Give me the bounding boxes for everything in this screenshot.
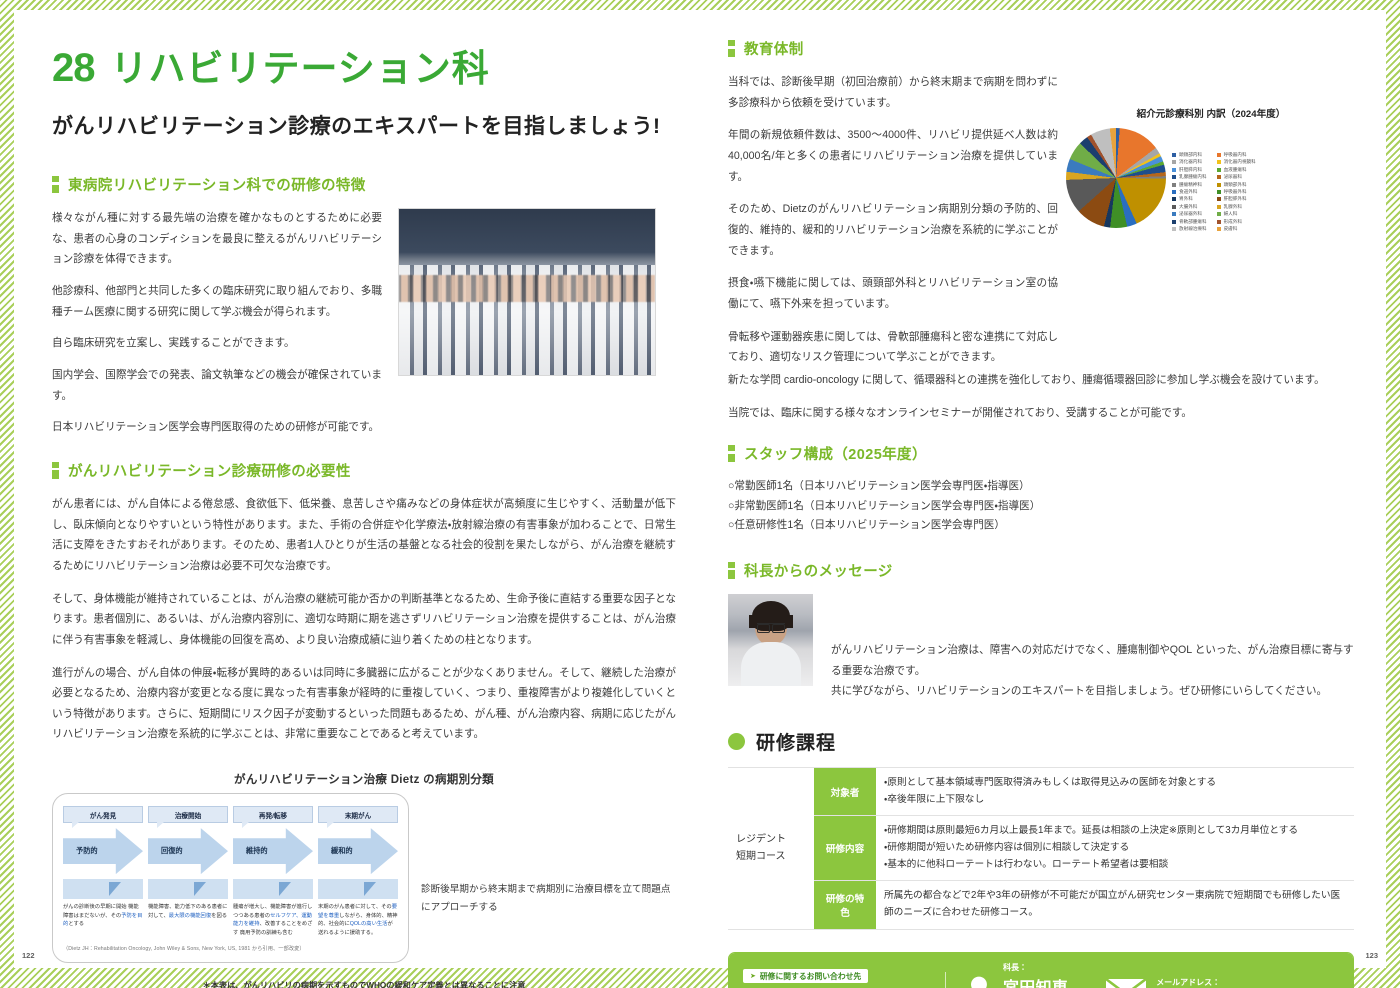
- legend-item: 放射線治療科: [1172, 226, 1207, 232]
- legend-swatch-icon: [1217, 197, 1221, 201]
- list-item: ・研修期間は原則最短6カ月以上最長1年まで。延長は相談の上決定※原則として3カ月…: [884, 823, 1346, 840]
- contact-tag-label: 研修に関するお問い合わせ先: [760, 971, 861, 982]
- legend-item: 肝胆膵内科: [1172, 167, 1207, 173]
- section-title-label: スタッフ構成（2025年度）: [744, 443, 927, 464]
- chapter-number: 28: [52, 46, 95, 91]
- legend-swatch-icon: [1217, 153, 1221, 157]
- legend-swatch-icon: [1217, 220, 1221, 224]
- leaf-marker-icon: [148, 879, 228, 899]
- legend-swatch-icon: [1172, 190, 1176, 194]
- leaf-marker-icon: [233, 879, 313, 899]
- envelope-icon: [1105, 977, 1147, 988]
- referral-pie-chart: 紹介元診療科別 内訳（2024年度） 頭頸部内科消化器内科肝胆膵内科乳腺腫瘍内科…: [1066, 106, 1356, 232]
- stage-description: 腫瘍が増大し、機能障害が進行しつつある患者のセルフケア、運動能力を維持、改善する…: [233, 903, 313, 937]
- stage-description: 末期のがん患者に対して、その要望を尊重しながら、身体的、精神的、社会的にQOLの…: [318, 903, 398, 937]
- two-page-spread: 28 リハビリテーション科 がんリハビリテーション診療のエキスパートを目指しまし…: [14, 10, 1386, 968]
- row-value: ・原則として基本領域専門医取得済みもしくは取得見込みの医師を対象とする ・卒後年…: [876, 767, 1354, 815]
- section-heading-education: 教育体制: [728, 38, 1354, 59]
- stage-description: 機能障害、能力低下のある患者に対して、最大限の機能回復を図る: [148, 903, 228, 937]
- legend-label: 頭頸部内科: [1179, 152, 1202, 158]
- arrow-label: 緩和的: [318, 846, 353, 856]
- legend-item: 乳腺外科: [1217, 204, 1256, 210]
- chart-body: 頭頸部内科消化器内科肝胆膵内科乳腺腫瘍内科腫瘍精神科食道外科胃外科大腸外科泌尿器…: [1066, 128, 1356, 232]
- table-row: レジデント 短期コース 対象者 ・原則として基本領域専門医取得済みもしくは取得見…: [728, 767, 1354, 815]
- legend-column-left: 頭頸部内科消化器内科肝胆膵内科乳腺腫瘍内科腫瘍精神科食道外科胃外科大腸外科泌尿器…: [1172, 152, 1207, 232]
- bar-marker-icon: [52, 176, 59, 193]
- contact-org-block: ➤ 研修に関するお問い合わせ先: [743, 965, 927, 988]
- divider: [945, 972, 946, 988]
- list-item: ・卒後年限に上下限なし: [884, 792, 1346, 809]
- phase-arrow-icon: 回復的: [148, 828, 228, 874]
- list-item: ・基本的に他科ローテートは行わない。ローテート希望者は要相談: [884, 857, 1346, 874]
- desc-highlight: 最大限の機能回復: [169, 913, 211, 919]
- desc-text: 末期のがん患者に対して、その: [318, 904, 392, 910]
- paragraph: 自ら臨床研究を立案し、実践することができます。: [52, 333, 382, 354]
- legend-swatch-icon: [1172, 197, 1176, 201]
- message-line: 共に学びながら、リハビリテーションのエキスパートを目指しましょう。ぜひ研修にいら…: [831, 681, 1354, 702]
- legend-swatch-icon: [1172, 160, 1176, 164]
- legend-item: 大腸外科: [1172, 204, 1207, 210]
- legend-swatch-icon: [1217, 190, 1221, 194]
- bar-marker-icon: [728, 562, 735, 579]
- bar-marker-icon: [728, 445, 735, 462]
- page-subtitle: がんリハビリテーション診療のエキスパートを目指しましょう!: [52, 110, 676, 140]
- section-heading-necessity: がんリハビリテーション診療研修の必要性: [52, 460, 676, 481]
- section-heading-message: 科長からのメッセージ: [728, 560, 1354, 581]
- legend-item: 泌尿器科: [1217, 174, 1256, 180]
- legend-label: 食道外科: [1179, 189, 1197, 195]
- course-name-line2: 短期コース: [736, 848, 806, 865]
- stage-column: 末期がん: [318, 806, 398, 823]
- stage-column: 予防的: [63, 823, 143, 874]
- leaf-marker-icon: [318, 879, 398, 899]
- paragraph: 新たな学問 cardio-oncology に関して、循環器科との連携を強化して…: [728, 370, 1354, 391]
- bar-marker-icon: [52, 462, 59, 479]
- diagram-row: がん発見 治療開始 再発/転移 末期がん: [52, 793, 676, 963]
- diagram-title: がんリハビリテーション治療 Dietz の病期別分類: [52, 771, 676, 787]
- phase-arrow-icon: 維持的: [233, 828, 313, 874]
- legend-item: 肝胆膵外科: [1217, 196, 1256, 202]
- staff-line: ○非常勤医師1名（日本リハビリテーション医学会専門医・指導医）: [728, 497, 1354, 517]
- intro-paragraphs: 様々ながん種に対する最先端の治療を確かなものとするために必要な、患者の心身のコン…: [52, 208, 382, 438]
- staff-group-photo: [398, 208, 656, 376]
- section-heading-staff: スタッフ構成（2025年度）: [728, 443, 1354, 464]
- paragraph: 日本リハビリテーション医学会専門医取得のための研修が可能です。: [52, 417, 382, 438]
- stage-column: 再発/転移: [233, 806, 313, 823]
- legend-item: 腫瘍精神科: [1172, 182, 1207, 188]
- legend-label: 血液腫瘍科: [1224, 167, 1247, 173]
- legend-swatch-icon: [1217, 160, 1221, 164]
- row-value: ・研修期間は原則最短6カ月以上最長1年まで。延長は相談の上決定※原則として3カ月…: [876, 816, 1354, 881]
- stage-column: 回復的: [148, 823, 228, 874]
- email-info: メールアドレス： cmiyata@east.ncc.go.jp: [1156, 977, 1339, 988]
- right-page: 教育体制 当科では、診断後早期（初回治療前）から終末期まで病期を問わずに多診療科…: [700, 10, 1386, 968]
- legend-swatch-icon: [1172, 220, 1176, 224]
- legend-label: 形成外科: [1224, 219, 1242, 225]
- diagram-panel: がん発見 治療開始 再発/転移 末期がん: [52, 793, 409, 963]
- legend-label: 骨軟部腫瘍科: [1179, 219, 1207, 225]
- phase-arrow-icon: 予防的: [63, 828, 143, 874]
- chief-info: 科長： 宮田知恵子: [1003, 962, 1079, 988]
- table-row: 研修内容 ・研修期間は原則最短6カ月以上最長1年まで。延長は相談の上決定※原則と…: [728, 816, 1354, 881]
- diagram-footnote: ＊本表は、がんリハビリの病期を示すものでWHOの緩和ケア定義とは異なることに注意: [52, 979, 676, 988]
- paragraph: 他診療科、他部門と共同した多くの臨床研究に取り組んでおり、多職種チーム医療に関す…: [52, 281, 382, 322]
- stage-tag: 治療開始: [148, 806, 228, 823]
- legend-item: 頭頸部内科: [1172, 152, 1207, 158]
- legend-swatch-icon: [1172, 212, 1176, 216]
- legend-label: 放射線治療科: [1179, 226, 1207, 232]
- legend-item: 乳腺腫瘍内科: [1172, 174, 1207, 180]
- paragraph: 国内学会、国際学会での発表、論文執筆などの機会が確保されています。: [52, 365, 382, 406]
- legend-item: 婦人科: [1217, 211, 1256, 217]
- email-label: メールアドレス：: [1156, 977, 1339, 988]
- row-key: 研修の特色: [814, 881, 876, 929]
- chief-message-block: がんリハビリテーション治療は、障害への対応だけでなく、腫瘍制御やQOL といった…: [728, 594, 1354, 702]
- staff-line: ○常勤医師1名（日本リハビリテーション医学会専門医・指導医）: [728, 477, 1354, 497]
- chief-portrait: [728, 594, 813, 686]
- legend-label: 大腸外科: [1179, 204, 1197, 210]
- row-key: 対象者: [814, 767, 876, 815]
- page-background: 28 リハビリテーション科 がんリハビリテーション診療のエキスパートを目指しまし…: [0, 0, 1400, 988]
- legend-swatch-icon: [1217, 212, 1221, 216]
- arrow-label: 予防的: [63, 846, 98, 856]
- bar-marker-icon: [728, 40, 735, 57]
- legend-label: 婦人科: [1224, 211, 1238, 217]
- legend-item: 食道外科: [1172, 189, 1207, 195]
- arrow-label: 回復的: [148, 846, 183, 856]
- legend-swatch-icon: [1172, 227, 1176, 231]
- section-heading-features: 東病院リハビリテーション科での研修の特徴: [52, 174, 676, 195]
- legend-item: 胃外科: [1172, 196, 1207, 202]
- phase-arrow-icon: 緩和的: [318, 828, 398, 874]
- chart-title: 紹介元診療科別 内訳（2024年度）: [1066, 106, 1356, 120]
- paragraph: 当科では、診断後早期（初回治療前）から終末期まで病期を問わずに多診療科から依頼を…: [728, 72, 1058, 113]
- stage-column: 治療開始: [148, 806, 228, 823]
- legend-swatch-icon: [1217, 175, 1221, 179]
- page-title: 28 リハビリテーション科: [52, 38, 676, 92]
- contact-top-bar: ➤ 研修に関するお問い合わせ先: [729, 953, 1353, 988]
- course-table: レジデント 短期コース 対象者 ・原則として基本領域専門医取得済みもしくは取得見…: [728, 767, 1354, 930]
- diagram-descriptions: がんの診断後の早期に開始 機能障害はまだないが、その予防を目的とする 機能障害、…: [63, 903, 398, 937]
- chief-label: 科長：: [1003, 962, 1079, 973]
- legend-item: 血液腫瘍科: [1217, 167, 1256, 173]
- section-title-label: 東病院リハビリテーション科での研修の特徴: [68, 174, 366, 195]
- paragraph: 摂食・嚥下機能に関しては、頭頸部外科とリハビリテーション室の協働にて、嚥下外来を…: [728, 273, 1058, 314]
- paragraph: 様々ながん種に対する最先端の治療を確かなものとするために必要な、患者の心身のコン…: [52, 208, 382, 270]
- page-number-left: 122: [22, 951, 35, 960]
- legend-item: 消化器内科: [1172, 159, 1207, 165]
- legend-swatch-icon: [1172, 183, 1176, 187]
- course-name-line1: レジデント: [736, 831, 806, 848]
- stage-column: 維持的: [233, 823, 313, 874]
- glasses-icon: [757, 623, 785, 630]
- course-name-cell: レジデント 短期コース: [728, 767, 814, 929]
- contact-tag-badge: ➤ 研修に関するお問い合わせ先: [743, 969, 868, 983]
- desc-highlight: QOLの高い生活: [350, 921, 388, 927]
- desc-text: とする: [68, 921, 84, 927]
- legend-swatch-icon: [1217, 168, 1221, 172]
- stage-tag: がん発見: [63, 806, 143, 823]
- legend-label: 泌尿器科: [1224, 174, 1242, 180]
- paragraph: がん患者には、がん自体による倦怠感、食欲低下、低栄養、息苦しさや痛みなどの身体症…: [52, 494, 676, 577]
- legend-label: 胃外科: [1179, 196, 1193, 202]
- diagram-leaf-markers: [63, 879, 398, 899]
- bullet-dot-icon: [728, 733, 745, 750]
- legend-label: 泌尿器外科: [1179, 211, 1202, 217]
- list-item: ・原則として基本領域専門医取得済みもしくは取得見込みの医師を対象とする: [884, 775, 1346, 792]
- legend-label: 乳腺腫瘍内科: [1179, 174, 1207, 180]
- legend-swatch-icon: [1172, 168, 1176, 172]
- stage-column: 緩和的: [318, 823, 398, 874]
- table-row: 研修の特色 所属先の都合などで2年や3年の研修が不可能だが国立がん研究センター東…: [728, 881, 1354, 929]
- list-item: 所属先の都合などで2年や3年の研修が不可能だが国立がん研究センター東病院で短期間…: [884, 888, 1346, 921]
- paragraph: そのため、Dietzのがんリハビリテーション病期別分類の予防的、回復的、維持的、…: [728, 199, 1058, 261]
- stage-column: がん発見: [63, 806, 143, 823]
- list-item: ・研修期間が短いため研修内容は個別に相談して決定する: [884, 840, 1346, 857]
- diagram-arrows: 予防的 回復的 維持的 緩和的: [63, 823, 398, 874]
- diagram-side-note: 診断後早期から終末期まで病期別に治療目標を立て問題点にアプローチする: [421, 793, 676, 916]
- stage-tag: 末期がん: [318, 806, 398, 823]
- section-title-label: がんリハビリテーション診療研修の必要性: [68, 460, 351, 481]
- legend-swatch-icon: [1172, 153, 1176, 157]
- section-title-label: 科長からのメッセージ: [744, 560, 893, 581]
- contact-chief: 科長： 宮田知恵子: [964, 962, 1079, 988]
- department-title: リハビリテーション科: [111, 38, 490, 92]
- education-paragraphs: 当科では、診断後早期（初回治療前）から終末期まで病期を問わずに多診療科から依頼を…: [728, 72, 1058, 368]
- legend-label: 頭頸部外科: [1224, 182, 1247, 188]
- stage-description: がんの診断後の早期に開始 機能障害はまだないが、その予防を目的とする: [63, 903, 143, 937]
- stage-tag: 再発/転移: [233, 806, 313, 823]
- page-number-right: 123: [1365, 951, 1378, 960]
- legend-label: 乳腺外科: [1224, 204, 1242, 210]
- legend-swatch-icon: [1217, 205, 1221, 209]
- page-sheet: 28 リハビリテーション科 がんリハビリテーション診療のエキスパートを目指しまし…: [14, 10, 1386, 968]
- legend-label: 呼吸器外科: [1224, 189, 1247, 195]
- section-title-label: 教育体制: [744, 38, 804, 59]
- paragraph: 骨転移や運動器疾患に関しては、骨軟部腫瘍科と密な連携にて対応しており、適切なリス…: [728, 327, 1058, 368]
- legend-label: 肝胆膵内科: [1179, 167, 1202, 173]
- legend-column-right: 呼吸器内科消化器内視鏡科血液腫瘍科泌尿器科頭頸部外科呼吸器外科肝胆膵外科乳腺外科…: [1217, 152, 1256, 232]
- legend-item: 泌尿器外科: [1172, 211, 1207, 217]
- legend-swatch-icon: [1217, 227, 1221, 231]
- left-page: 28 リハビリテーション科 がんリハビリテーション診療のエキスパートを目指しまし…: [14, 10, 700, 968]
- contact-box: ➤ 研修に関するお問い合わせ先: [728, 952, 1354, 988]
- desc-text: を図る: [211, 913, 227, 919]
- legend-label: 消化器内科: [1179, 159, 1202, 165]
- chief-message-text: がんリハビリテーション治療は、障害への対応だけでなく、腫瘍制御やQOL といった…: [831, 594, 1354, 702]
- row-value: 所属先の都合などで2年や3年の研修が不可能だが国立がん研究センター東病院で短期間…: [876, 881, 1354, 929]
- chart-legend: 頭頸部内科消化器内科肝胆膵内科乳腺腫瘍内科腫瘍精神科食道外科胃外科大腸外科泌尿器…: [1172, 128, 1256, 232]
- legend-item: 消化器内視鏡科: [1217, 159, 1256, 165]
- legend-item: 頭頸部外科: [1217, 182, 1256, 188]
- diagram-citation: （Dietz JH：Rehabilitation Oncology, John …: [63, 945, 398, 952]
- legend-label: 呼吸器内科: [1224, 152, 1247, 158]
- row-key: 研修内容: [814, 816, 876, 881]
- legend-item: 骨軟部腫瘍科: [1172, 219, 1207, 225]
- legend-item: 皮膚科: [1217, 226, 1256, 232]
- legend-label: 腫瘍精神科: [1179, 182, 1202, 188]
- arrow-label: 維持的: [233, 846, 268, 856]
- legend-swatch-icon: [1217, 183, 1221, 187]
- staff-line: ○任意研修性1名（日本リハビリテーション医学会専門医）: [728, 516, 1354, 536]
- leaf-marker-icon: [63, 879, 143, 899]
- contact-email[interactable]: メールアドレス： cmiyata@east.ncc.go.jp: [1105, 977, 1339, 988]
- section-title-label: 研修課程: [756, 728, 836, 755]
- legend-item: 形成外科: [1217, 219, 1256, 225]
- dietz-diagram: がんリハビリテーション治療 Dietz の病期別分類 がん発見 治療開始: [52, 771, 676, 988]
- paragraph: 年間の新規依頼件数は、3500〜4000件、リハビリ提供延べ人数は約40,000…: [728, 125, 1058, 187]
- diagram-stage-tags: がん発見 治療開始 再発/転移 末期がん: [63, 806, 398, 823]
- chief-name: 宮田知恵子: [1003, 974, 1079, 988]
- person-icon: [964, 973, 994, 988]
- section-heading-course: 研修課程: [728, 728, 1354, 755]
- arrow-right-icon: ➤: [750, 972, 756, 980]
- pie-graphic: [1066, 128, 1166, 228]
- intro-block: 様々ながん種に対する最先端の治療を確かなものとするために必要な、患者の心身のコン…: [52, 208, 676, 438]
- paragraph: そして、身体機能が維持されていることは、がん治療の継続可能か否かの判断基準となる…: [52, 589, 676, 651]
- legend-item: 呼吸器内科: [1217, 152, 1256, 158]
- legend-label: 肝胆膵外科: [1224, 196, 1247, 202]
- legend-swatch-icon: [1172, 205, 1176, 209]
- paragraph: 当院では、臨床に関する様々なオンラインセミナーが開催されており、受講することが可…: [728, 403, 1354, 424]
- legend-swatch-icon: [1172, 175, 1176, 179]
- legend-label: 皮膚科: [1224, 226, 1238, 232]
- paragraph: 進行がんの場合、がん自体の伸展・転移が異時的あるいは同時に多臓器に広がることが少…: [52, 663, 676, 746]
- message-line: がんリハビリテーション治療は、障害への対応だけでなく、腫瘍制御やQOL といった…: [831, 640, 1354, 681]
- legend-item: 呼吸器外科: [1217, 189, 1256, 195]
- legend-label: 消化器内視鏡科: [1224, 159, 1256, 165]
